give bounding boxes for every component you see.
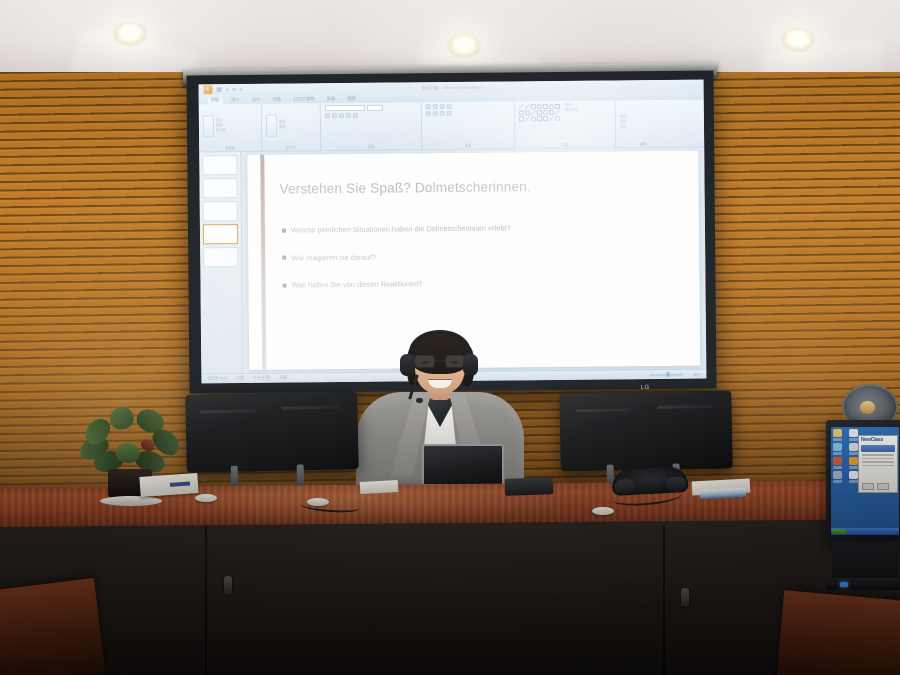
desktop-icon-grid[interactable] [833, 429, 861, 482]
reset-label[interactable]: 重设 [279, 126, 286, 130]
desktop-icon-document[interactable] [849, 429, 858, 440]
group-label-drawing: 绘图 [519, 141, 611, 147]
newclass-selection-bar[interactable] [861, 445, 895, 452]
zoom-slider[interactable] [650, 373, 684, 375]
downlight-left-icon [113, 22, 147, 46]
line-spacing-button[interactable] [447, 111, 452, 116]
quick-styles-label[interactable]: 快速样式 [565, 109, 578, 113]
shape-gallery[interactable] [519, 104, 560, 121]
paper-card [360, 480, 399, 494]
group-label-editing: 编辑 [620, 141, 666, 146]
plant-saucer [100, 496, 162, 506]
slide-title[interactable]: Verstehen Sie Spaß? Dolmetscherinnen. [280, 178, 677, 197]
align-left-button[interactable] [426, 111, 431, 116]
zoom-level: 66% [693, 372, 701, 376]
save-icon[interactable] [217, 87, 222, 92]
ribbon-group-font: 字体 [321, 102, 422, 150]
newclass-buttons[interactable] [862, 483, 889, 490]
undo-icon[interactable] [226, 88, 229, 91]
cabinet-handle-left[interactable] [224, 576, 232, 595]
classroom-photo-scene: 演示文稿1 - Microsoft PowerPoint 开始 插入 设计 切换… [0, 0, 900, 675]
replace-label[interactable]: 替换 [620, 120, 627, 124]
paper-strip [170, 482, 190, 487]
customize-icon[interactable] [240, 88, 243, 91]
pc-desktop[interactable]: NewClass [831, 427, 899, 535]
cancel-button[interactable] [877, 483, 889, 490]
desktop-icon-app[interactable] [833, 443, 842, 454]
language-label[interactable]: 中文(中国) [253, 376, 271, 381]
start-button[interactable] [832, 529, 846, 534]
align-right-button[interactable] [440, 111, 445, 116]
desktop-icon-media[interactable] [849, 443, 858, 454]
pc-base [826, 578, 900, 590]
lg-logo: LG [641, 385, 650, 391]
foreground-desk-left [0, 578, 105, 675]
theme-label[interactable]: 主题 [236, 376, 244, 381]
newclass-window[interactable]: NewClass [858, 435, 898, 493]
slide-thumbnail[interactable] [202, 178, 237, 198]
ribbon-group-paragraph: 段落 [422, 101, 515, 149]
cabinet-handle-right[interactable] [681, 588, 689, 607]
slide-thumbnail[interactable] [202, 155, 237, 175]
ok-button[interactable] [862, 483, 874, 490]
format-painter-label[interactable]: 格式刷 [216, 129, 226, 133]
slide-thumbnail[interactable] [203, 201, 238, 221]
strikethrough-button[interactable] [353, 113, 358, 118]
ribbon-group-clipboard: 剪切 复制 格式刷 剪贴板 [199, 104, 262, 152]
cut-label[interactable]: 剪切 [216, 119, 226, 123]
paste-button[interactable] [203, 115, 214, 137]
pc-power-led-icon [840, 582, 848, 587]
align-center-button[interactable] [433, 111, 438, 116]
ribbon-group-drawing: 排列 快速样式 绘图 [515, 100, 616, 148]
slide-indicator: 幻灯片 4/14 [207, 376, 227, 381]
pc-stand [832, 542, 898, 582]
indent-decrease-button[interactable] [440, 104, 445, 109]
desktop-icon-folder[interactable] [833, 429, 842, 440]
downlight-center-icon [447, 34, 481, 58]
desktop-icon-browser[interactable] [849, 457, 858, 468]
office-orb-icon[interactable] [204, 85, 213, 94]
cabinet-seam [663, 525, 665, 675]
desktop-icon-settings[interactable] [833, 457, 842, 468]
underline-button[interactable] [339, 113, 344, 118]
ribbon: 剪切 复制 格式刷 剪贴板 版式 重设 [199, 100, 704, 153]
control-pc[interactable]: NewClass [826, 420, 900, 595]
downlight-right-icon [781, 28, 815, 52]
ribbon-group-slides: 版式 重设 幻灯片 [262, 103, 321, 151]
slide-thumbnail-pane[interactable] [199, 152, 243, 373]
monitor-right[interactable]: LG [559, 391, 732, 472]
tablet-screen[interactable] [422, 444, 504, 484]
newclass-content [859, 453, 897, 469]
bullets-button[interactable] [426, 104, 431, 109]
desktop-icon-word[interactable] [849, 471, 858, 482]
find-label[interactable]: 查找 [620, 115, 627, 119]
list-item[interactable]: Wie reagieren sie darauf? [282, 248, 679, 265]
headset-mic-tip-icon [416, 398, 423, 403]
bold-button[interactable] [325, 113, 330, 118]
paper-note [139, 473, 198, 497]
bullet-text: Welche peinlichen Situationen haben die … [291, 221, 511, 237]
italic-button[interactable] [332, 113, 337, 118]
cable-grommet [195, 494, 217, 502]
shadow-button[interactable] [346, 113, 351, 118]
group-label-slides: 幻灯片 [266, 144, 316, 149]
list-item[interactable]: Welche peinlichen Situationen haben die … [282, 220, 679, 237]
monitor-left[interactable] [185, 391, 359, 473]
numbering-button[interactable] [433, 104, 438, 109]
bullet-text: Wie reagieren sie darauf? [291, 250, 376, 264]
window-title: 演示文稿1 - Microsoft PowerPoint [421, 84, 481, 91]
list-item[interactable]: Was halten Sie von diesen Reaktionen? [282, 275, 679, 292]
cabinet-seam [205, 525, 207, 675]
select-label[interactable]: 选择 [620, 125, 627, 129]
bullet-square-icon [282, 256, 286, 260]
slide-thumbnail-selected[interactable] [203, 224, 238, 244]
redo-icon[interactable] [233, 88, 236, 91]
slide-bullet-list[interactable]: Welche peinlichen Situationen haben die … [282, 220, 680, 307]
desktop-icon-network[interactable] [833, 471, 842, 482]
view-label[interactable]: 视图 [280, 376, 288, 381]
ribbon-group-editing: 查找 替换 选择 编辑 [616, 100, 670, 148]
font-size-combo[interactable] [367, 105, 383, 111]
foreground-desk-right [776, 590, 900, 675]
pc-taskbar[interactable] [831, 528, 899, 535]
desk-front-panel [0, 519, 900, 675]
headset-earcup-left-icon [400, 354, 415, 376]
indent-increase-button[interactable] [447, 104, 452, 109]
group-label-paragraph: 段落 [426, 142, 510, 148]
new-slide-button[interactable] [266, 114, 277, 136]
slide-accent-bar [260, 155, 266, 370]
headset-earcup-right-icon [463, 354, 478, 376]
cable-grommet [592, 507, 614, 515]
bullet-square-icon [282, 283, 286, 287]
font-name-combo[interactable] [325, 105, 365, 111]
copy-label[interactable]: 复制 [216, 124, 226, 128]
bullet-square-icon [282, 228, 286, 232]
group-label-font: 字体 [325, 143, 417, 149]
pc-monitor-bezel: NewClass [826, 420, 900, 542]
bullet-text: Was halten Sie von diesen Reaktionen? [291, 278, 422, 293]
desk-device-box [505, 477, 554, 496]
group-label-clipboard: 剪贴板 [203, 145, 257, 151]
newclass-window-title: NewClass [859, 436, 897, 444]
slide-thumbnail[interactable] [203, 247, 238, 267]
